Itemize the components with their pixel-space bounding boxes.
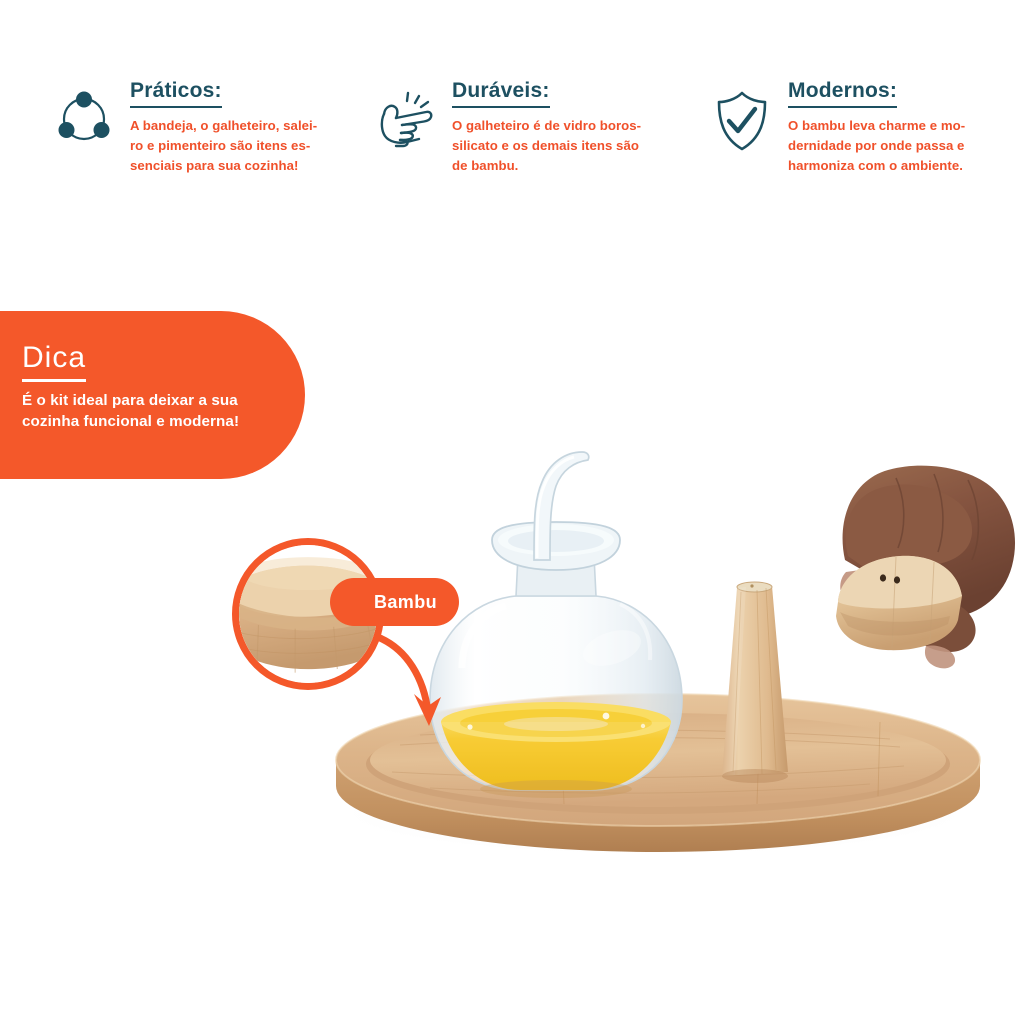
glass-oil-cruet (430, 452, 682, 798)
three-dot-circle-icon (52, 80, 116, 156)
bamboo-pepper-shaker (722, 582, 788, 783)
feature-block-modernos: Modernos: O bambu leva charme e mo- dern… (710, 80, 1010, 176)
feature-title: Modernos: (788, 80, 897, 108)
feature-body: O galheteiro é de vidro boros- silicato … (452, 116, 641, 176)
shield-check-icon (710, 80, 774, 156)
feature-text: Duráveis: O galheteiro é de vidro boros-… (438, 80, 641, 176)
curved-arrow-icon (375, 636, 441, 726)
bamboo-tray (336, 694, 980, 852)
snapping-hand-icon (374, 80, 438, 156)
feature-body: A bandeja, o galheteiro, salei- ro e pim… (130, 116, 317, 176)
infographic-page: Práticos: A bandeja, o galheteiro, salei… (0, 0, 1024, 1024)
dica-title: Dica (22, 343, 86, 382)
feature-body: O bambu leva charme e mo- dernidade por … (788, 116, 965, 176)
bambu-label: Bambu (374, 592, 437, 613)
dica-banner: Dica É o kit ideal para deixar a sua coz… (0, 311, 305, 479)
hand-holding-salt-shaker (836, 466, 1015, 669)
feature-block-praticos: Práticos: A bandeja, o galheteiro, salei… (52, 80, 362, 176)
tray-shadow (335, 768, 975, 856)
feature-block-duraveis: Duráveis: O galheteiro é de vidro boros-… (374, 80, 674, 176)
dica-body: É o kit ideal para deixar a sua cozinha … (22, 391, 282, 432)
feature-text: Modernos: O bambu leva charme e mo- dern… (774, 80, 965, 176)
bambu-label-pill: Bambu (330, 578, 459, 626)
feature-text: Práticos: A bandeja, o galheteiro, salei… (116, 80, 317, 176)
bamboo-salt-shaker (836, 556, 962, 650)
feature-title: Duráveis: (452, 80, 550, 108)
feature-title: Práticos: (130, 80, 222, 108)
